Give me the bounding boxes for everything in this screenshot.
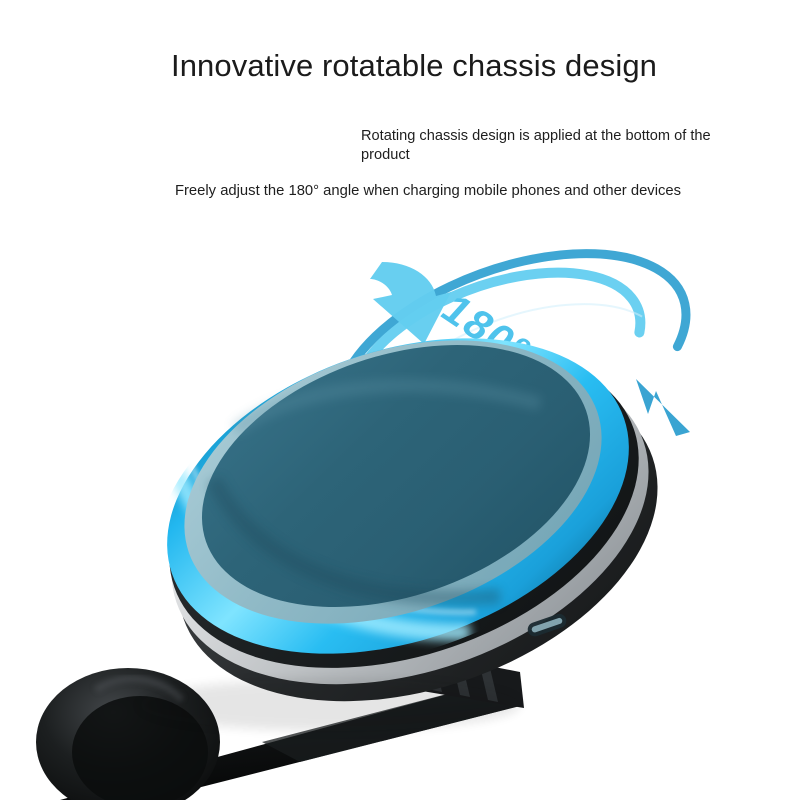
product-stand	[36, 648, 524, 800]
outer-arrowhead	[636, 379, 690, 436]
inner-arrowhead	[370, 262, 451, 344]
arc-highlight	[361, 273, 644, 418]
glow-streak	[176, 470, 470, 632]
top-face-sheen	[236, 385, 540, 430]
disc-layer-silver-rim	[128, 301, 692, 744]
product-marketing-image: Innovative rotatable chassis design Rota…	[0, 0, 800, 800]
contact-shadow	[140, 679, 520, 731]
rotation-arrow-right	[636, 379, 690, 436]
disc-layer-base-dark	[135, 315, 702, 760]
mount-specular	[96, 679, 182, 700]
rotation-arc-outer	[310, 211, 699, 463]
hinge-block	[398, 648, 524, 708]
charger-disc	[125, 281, 702, 760]
glow-streak-core	[186, 452, 476, 612]
top-face-shadow	[214, 480, 500, 598]
usb-c-port-shell	[526, 612, 568, 638]
mount-inner	[72, 696, 208, 800]
usb-c-port	[526, 612, 568, 638]
page-title: Innovative rotatable chassis design	[0, 48, 800, 85]
arc-highlight-path	[361, 273, 644, 418]
rotation-arc-inner	[330, 238, 652, 452]
usb-c-port-tongue	[531, 617, 563, 633]
stand-arm	[60, 688, 520, 800]
rotation-degree-label: 180º	[432, 286, 541, 373]
disc-top-face	[167, 297, 625, 655]
hinge-ribs	[424, 656, 498, 702]
subtitle-text: Rotating chassis design is applied at th…	[361, 127, 753, 165]
inner-arc-path	[330, 238, 652, 452]
glow-streak-group	[176, 452, 476, 632]
stand-arm-highlight	[262, 688, 520, 762]
mount-base	[36, 668, 220, 800]
rotation-arrow-graphic: 180º	[310, 211, 699, 463]
disc-layer-dark-band	[126, 290, 681, 726]
rotation-arrow-left	[370, 262, 451, 344]
disc-layer-glow-ring	[125, 281, 671, 711]
product-illustration: 180º	[0, 0, 800, 800]
disc-inner-bezel	[146, 289, 639, 675]
illustration-svg: 180º	[0, 0, 800, 800]
tagline-text: Freely adjust the 180° angle when chargi…	[0, 183, 800, 199]
outer-arc-path	[310, 211, 699, 463]
